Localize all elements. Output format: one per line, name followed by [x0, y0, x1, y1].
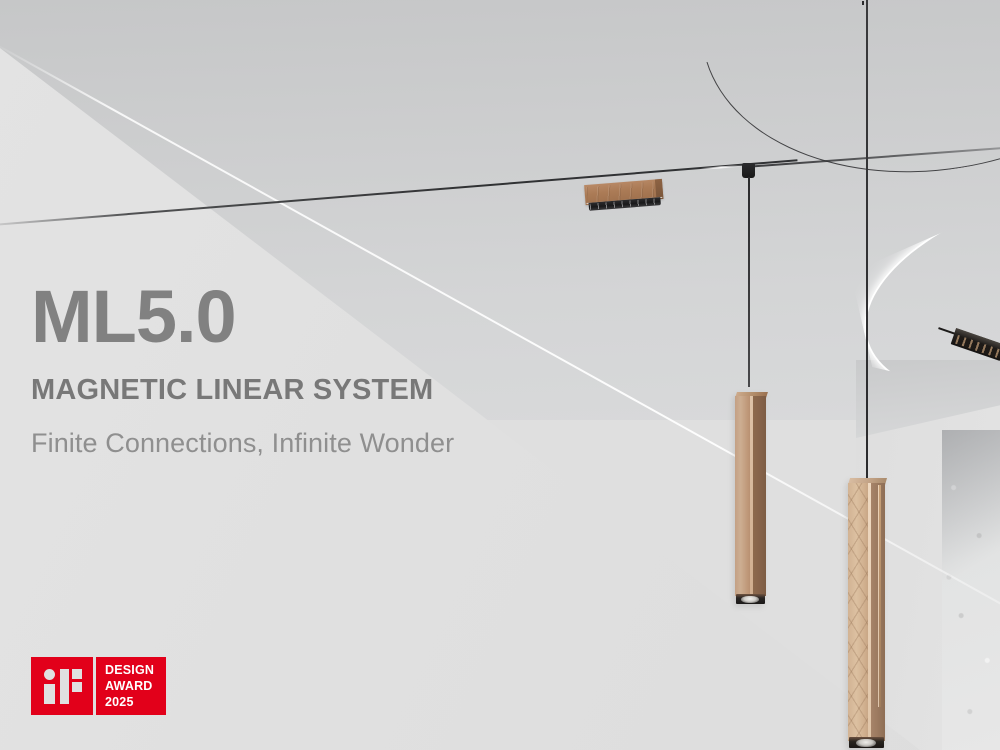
poster-copy-block: ML5.0 MAGNETIC LINEAR SYSTEM Finite Conn… [31, 280, 454, 457]
pendant-cable [748, 177, 750, 387]
if-logo-f-arm-upper [72, 669, 82, 679]
pendant-face-right [752, 396, 766, 596]
pendant-track-connector [742, 163, 755, 178]
award-line-design: DESIGN [105, 662, 154, 678]
award-text-block: DESIGN AWARD 2025 [96, 657, 166, 715]
if-logo-f-arm-lower [72, 682, 82, 692]
if-logo-f-stem [60, 669, 69, 704]
pendant-lens [741, 596, 759, 603]
if-logo-i-dot [44, 669, 55, 680]
pendant-track-connector-2 [862, 1, 864, 5]
if-logo-icon [31, 657, 93, 715]
faceted-pendant-lens [856, 739, 876, 747]
bronze-wall-reveal-highlight [878, 485, 879, 707]
faceted-pendant-face-left [848, 483, 870, 741]
bronze-pendant-tube [735, 392, 766, 604]
wall-shadow [942, 430, 1000, 580]
pendant-corner-edge [750, 396, 753, 596]
if-logo-i-stem [44, 684, 55, 704]
product-tagline: Finite Connections, Infinite Wonder [31, 430, 454, 457]
faceted-pendant-corner-edge [868, 483, 871, 741]
award-line-year: 2025 [105, 694, 134, 710]
award-line-award: AWARD [105, 678, 153, 694]
if-design-award-badge: DESIGN AWARD 2025 [31, 657, 166, 715]
product-subtitle: MAGNETIC LINEAR SYSTEM [31, 376, 454, 405]
pendant-cable-2 [866, 0, 868, 480]
product-poster: ML5.0 MAGNETIC LINEAR SYSTEM Finite Conn… [0, 0, 1000, 750]
product-title: ML5.0 [31, 280, 454, 354]
